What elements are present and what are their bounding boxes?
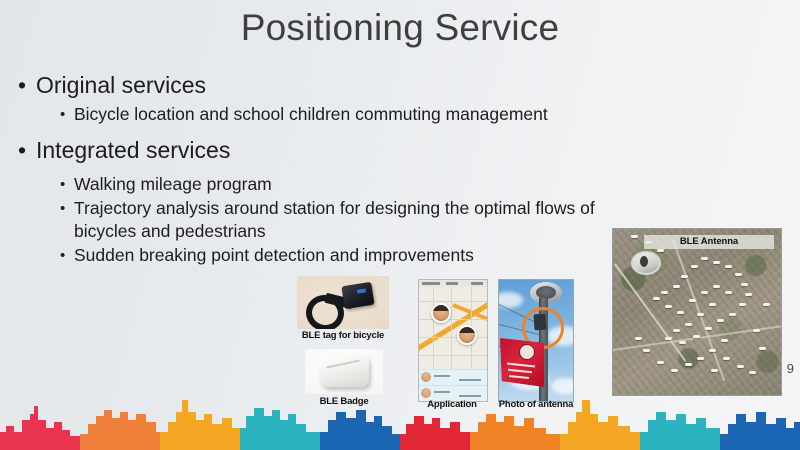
bullet-text: Sudden breaking point detection and impr… (74, 244, 630, 267)
application-screenshot (418, 279, 488, 402)
bullet-marker-icon: • (60, 244, 65, 267)
list-item (419, 369, 487, 385)
skyline-graphic (0, 398, 800, 450)
ble-antenna-label-band: BLE Antenna (644, 235, 774, 249)
bullet-text: Bicycle location and school children com… (74, 103, 630, 126)
skyline-decoration (0, 398, 800, 450)
aerial-map-photo: BLE Antenna (612, 228, 782, 396)
bullet-text: Walking mileage program (74, 173, 630, 196)
tag-body-shape (341, 282, 374, 309)
bullet-level1-integrated-services: • Integrated services (10, 135, 630, 166)
phone-status-bar (419, 280, 487, 287)
bullet-level2-bicycle-location: • Bicycle location and school children c… (10, 103, 630, 126)
ble-badge-photo (305, 349, 383, 394)
ble-antenna-label-text: BLE Antenna (644, 236, 774, 247)
slide-canvas: Positioning Service • Original services … (0, 0, 800, 450)
map-avatar-icon (457, 325, 477, 345)
stadium-infield-shape (640, 256, 648, 267)
map-avatar-icon (431, 303, 451, 323)
badge-body-shape (320, 355, 369, 387)
antenna-photo (498, 279, 574, 402)
ble-tag-photo (297, 276, 389, 329)
page-title: Positioning Service (0, 6, 800, 50)
map-area (419, 287, 487, 369)
bullet-text: Original services (36, 72, 206, 98)
bullet-marker-icon: • (60, 173, 65, 196)
bullet-marker-icon: • (60, 197, 65, 220)
bullet-marker-icon: • (18, 70, 26, 101)
app-result-list (419, 369, 487, 401)
bullet-level2-sudden-breaking: • Sudden breaking point detection and im… (10, 244, 630, 267)
bullet-level1-original-services: • Original services (10, 70, 630, 101)
bullet-marker-icon: • (18, 135, 26, 166)
banner-emblem-shape (519, 344, 535, 360)
ble-tag-caption: BLE tag for bicycle (285, 330, 401, 341)
bullet-text: Trajectory analysis around station for d… (74, 197, 630, 243)
bullet-list: • Original services • Bicycle location a… (10, 70, 630, 268)
page-number: 9 (787, 361, 794, 376)
bullet-level2-trajectory-analysis: • Trajectory analysis around station for… (10, 197, 630, 243)
bullet-text: Integrated services (36, 137, 230, 163)
bullet-marker-icon: • (60, 103, 65, 126)
bullet-level2-walking-mileage: • Walking mileage program (10, 173, 630, 196)
